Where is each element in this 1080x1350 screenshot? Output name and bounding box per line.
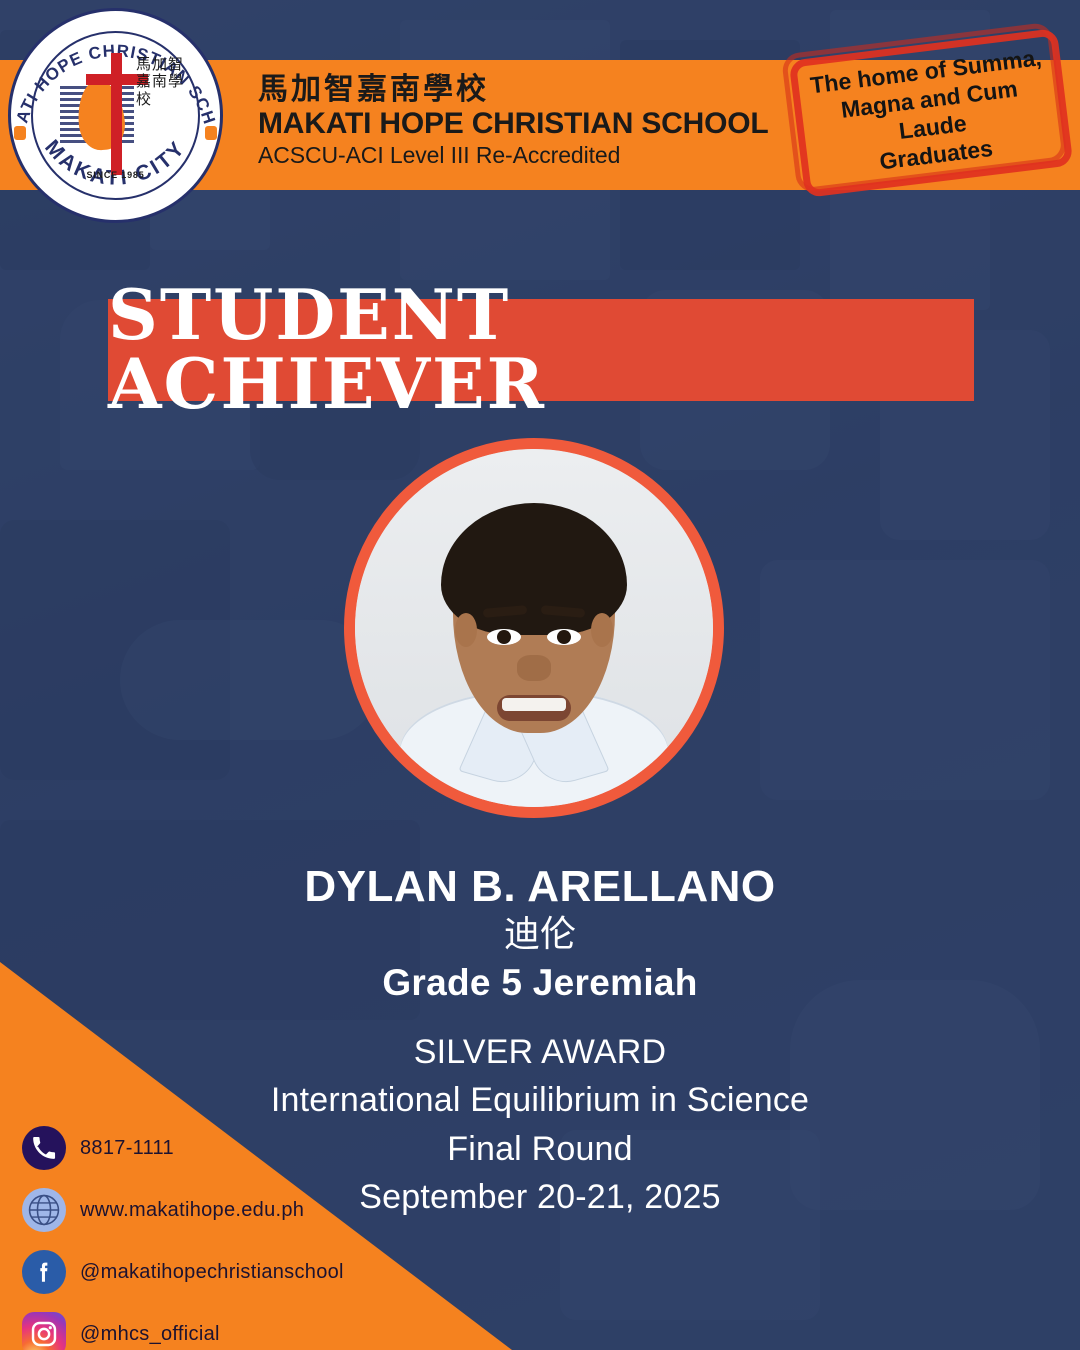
accreditation-text: ACSCU-ACI Level III Re-Accredited: [258, 143, 769, 167]
facebook-icon: [22, 1250, 66, 1294]
instagram-icon: [22, 1312, 66, 1350]
facebook-label: @makatihopechristianschool: [80, 1261, 344, 1284]
website-label: www.makatihope.edu.ph: [80, 1199, 304, 1222]
contact-phone[interactable]: 8817-1111: [22, 1126, 344, 1170]
student-portrait: [344, 438, 724, 818]
banner-title: STUDENT ACHIEVER: [108, 281, 974, 419]
student-name-chinese: 迪伦: [0, 913, 1080, 956]
student-achiever-banner: STUDENT ACHIEVER: [108, 299, 974, 401]
phone-label: 8817-1111: [80, 1137, 174, 1160]
phone-icon: [22, 1126, 66, 1170]
header-text-block: 馬加智嘉南學校 MAKATI HOPE CHRISTIAN SCHOOL ACS…: [258, 74, 769, 167]
contact-list: 8817-1111 www.makatihope.edu.ph @mak: [22, 1126, 344, 1350]
globe-icon: [22, 1188, 66, 1232]
contact-instagram[interactable]: @mhcs_official: [22, 1312, 344, 1350]
student-name: DYLAN B. ARELLANO: [0, 862, 1080, 911]
poster-canvas: 馬加智嘉南學校 MAKATI HOPE CHRISTIAN SCHOOL ACS…: [0, 0, 1080, 1350]
school-seal-logo: MAKATI HOPE CHRISTIAN SCHOOL MAKATI CITY…: [8, 8, 223, 223]
student-grade: Grade 5 Jeremiah: [0, 962, 1080, 1004]
contact-website[interactable]: www.makatihope.edu.ph: [22, 1188, 344, 1232]
seal-since-text: SINCE 1985: [8, 170, 223, 180]
award-line-1: SILVER AWARD: [0, 1028, 1080, 1076]
school-name-english: MAKATI HOPE CHRISTIAN SCHOOL: [258, 108, 769, 140]
seal-chinese-name: 馬加智嘉南學校: [136, 56, 192, 108]
instagram-label: @mhcs_official: [80, 1323, 220, 1346]
portrait-image: [355, 449, 713, 807]
school-name-chinese: 馬加智嘉南學校: [258, 74, 769, 106]
student-name-block: DYLAN B. ARELLANO 迪伦 Grade 5 Jeremiah: [0, 862, 1080, 1004]
contact-facebook[interactable]: @makatihopechristianschool: [22, 1250, 344, 1294]
